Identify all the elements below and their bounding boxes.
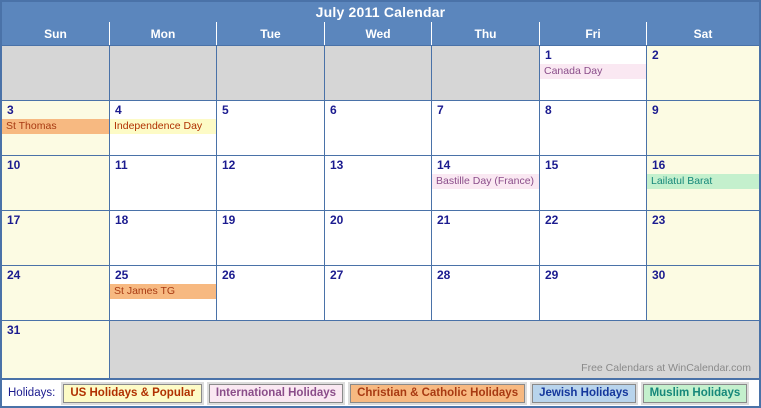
day-cell[interactable]: 23 bbox=[647, 211, 759, 265]
weekday-label: Thu bbox=[475, 27, 497, 41]
day-cell[interactable]: 10 bbox=[2, 156, 110, 210]
holiday-legend-bar: Holidays: US Holidays & PopularInternati… bbox=[0, 380, 761, 408]
day-number: 5 bbox=[217, 101, 324, 119]
weekday-label: Fri bbox=[585, 27, 600, 41]
day-cell[interactable]: 30 bbox=[647, 266, 759, 320]
day-cell[interactable]: 31 bbox=[2, 321, 110, 378]
day-number: 24 bbox=[2, 266, 109, 284]
day-number: 26 bbox=[217, 266, 324, 284]
day-cell-empty bbox=[325, 46, 432, 100]
day-cell[interactable]: 28 bbox=[432, 266, 540, 320]
day-number: 13 bbox=[325, 156, 431, 174]
day-cell[interactable]: 4Independence Day bbox=[110, 101, 217, 155]
day-cell[interactable]: 21 bbox=[432, 211, 540, 265]
day-number: 2 bbox=[647, 46, 759, 64]
day-number: 11 bbox=[110, 156, 216, 174]
day-number: 27 bbox=[325, 266, 431, 284]
week-row: 1011121314Bastille Day (France)1516Laila… bbox=[2, 156, 759, 211]
legend-chip-us[interactable]: US Holidays & Popular bbox=[63, 384, 202, 403]
day-cell[interactable]: 27 bbox=[325, 266, 432, 320]
legend-chip-muslim[interactable]: Muslim Holidays bbox=[643, 384, 748, 403]
day-cell-empty bbox=[217, 46, 325, 100]
weekday-header-thu: Thu bbox=[432, 22, 540, 45]
day-cell[interactable]: 15 bbox=[540, 156, 647, 210]
day-number: 21 bbox=[432, 211, 539, 229]
day-number: 4 bbox=[110, 101, 216, 119]
day-number: 14 bbox=[432, 156, 539, 174]
week-row: 17181920212223 bbox=[2, 211, 759, 266]
calendar-root: July 2011 Calendar SunMonTueWedThuFriSat… bbox=[0, 0, 761, 408]
legend-chip-jewish[interactable]: Jewish Holidays bbox=[532, 384, 635, 403]
day-number: 28 bbox=[432, 266, 539, 284]
day-cell[interactable]: 25St James TG bbox=[110, 266, 217, 320]
day-cell[interactable]: 12 bbox=[217, 156, 325, 210]
day-cell[interactable]: 17 bbox=[2, 211, 110, 265]
day-cell-empty bbox=[2, 46, 110, 100]
day-number: 10 bbox=[2, 156, 109, 174]
day-number: 31 bbox=[2, 321, 109, 339]
day-number: 15 bbox=[540, 156, 646, 174]
week-row: 2425St James TG2627282930 bbox=[2, 266, 759, 321]
weekday-label: Mon bbox=[151, 27, 176, 41]
holiday-event[interactable]: St James TG bbox=[110, 284, 216, 299]
day-number: 23 bbox=[647, 211, 759, 229]
weekday-header-wed: Wed bbox=[325, 22, 432, 45]
day-number: 16 bbox=[647, 156, 759, 174]
day-number: 9 bbox=[647, 101, 759, 119]
watermark-text: Free Calendars at WinCalendar.com bbox=[581, 362, 751, 374]
holiday-event[interactable]: Bastille Day (France) bbox=[432, 174, 539, 189]
weekday-header-mon: Mon bbox=[110, 22, 217, 45]
holiday-event[interactable]: Independence Day bbox=[110, 119, 216, 134]
week-row: 1Canada Day2 bbox=[2, 46, 759, 101]
day-cell[interactable]: 8 bbox=[540, 101, 647, 155]
weekday-header-row: SunMonTueWedThuFriSat bbox=[0, 22, 761, 45]
day-cell[interactable]: 1Canada Day bbox=[540, 46, 647, 100]
page-title: July 2011 Calendar bbox=[316, 5, 446, 19]
day-number: 17 bbox=[2, 211, 109, 229]
weekday-header-sat: Sat bbox=[647, 22, 759, 45]
day-number: 8 bbox=[540, 101, 646, 119]
day-cell[interactable]: 16Lailatul Barat bbox=[647, 156, 759, 210]
legend-chip-international[interactable]: International Holidays bbox=[209, 384, 343, 403]
day-number: 20 bbox=[325, 211, 431, 229]
legend-chip-christian[interactable]: Christian & Catholic Holidays bbox=[350, 384, 525, 403]
day-cell[interactable]: 19 bbox=[217, 211, 325, 265]
weekday-header-fri: Fri bbox=[540, 22, 647, 45]
day-cell[interactable]: 22 bbox=[540, 211, 647, 265]
day-cell[interactable]: 18 bbox=[110, 211, 217, 265]
day-cell[interactable]: 26 bbox=[217, 266, 325, 320]
holiday-event[interactable]: Lailatul Barat bbox=[647, 174, 759, 189]
day-cell[interactable]: 3St Thomas bbox=[2, 101, 110, 155]
weekday-label: Tue bbox=[260, 27, 280, 41]
day-number: 18 bbox=[110, 211, 216, 229]
day-cell[interactable]: 13 bbox=[325, 156, 432, 210]
day-cell[interactable]: 6 bbox=[325, 101, 432, 155]
weekday-header-sun: Sun bbox=[2, 22, 110, 45]
day-number: 1 bbox=[540, 46, 646, 64]
day-cell[interactable]: 29 bbox=[540, 266, 647, 320]
day-cell[interactable]: 14Bastille Day (France) bbox=[432, 156, 540, 210]
day-number: 30 bbox=[647, 266, 759, 284]
day-number: 12 bbox=[217, 156, 324, 174]
day-number: 3 bbox=[2, 101, 109, 119]
day-cell[interactable]: 24 bbox=[2, 266, 110, 320]
day-cell[interactable]: 11 bbox=[110, 156, 217, 210]
calendar-title-bar: July 2011 Calendar bbox=[0, 0, 761, 22]
day-cell[interactable]: 20 bbox=[325, 211, 432, 265]
day-number: 25 bbox=[110, 266, 216, 284]
day-cell[interactable]: 7 bbox=[432, 101, 540, 155]
calendar-grid: 1Canada Day23St Thomas4Independence Day5… bbox=[0, 45, 761, 380]
day-cell[interactable]: 5 bbox=[217, 101, 325, 155]
holiday-event[interactable]: St Thomas bbox=[2, 119, 109, 134]
day-cell-empty bbox=[432, 46, 540, 100]
day-number: 22 bbox=[540, 211, 646, 229]
legend-label: Holidays: bbox=[8, 387, 55, 399]
weekday-label: Wed bbox=[365, 27, 390, 41]
holiday-event[interactable]: Canada Day bbox=[540, 64, 646, 79]
day-number: 29 bbox=[540, 266, 646, 284]
weekday-label: Sat bbox=[694, 27, 713, 41]
weekday-header-tue: Tue bbox=[217, 22, 325, 45]
day-number: 7 bbox=[432, 101, 539, 119]
day-number: 6 bbox=[325, 101, 431, 119]
weekday-label: Sun bbox=[44, 27, 67, 41]
day-number: 19 bbox=[217, 211, 324, 229]
day-cell-empty bbox=[110, 46, 217, 100]
day-cell[interactable]: 9 bbox=[647, 101, 759, 155]
day-cell[interactable]: 2 bbox=[647, 46, 759, 100]
week-row: 3St Thomas4Independence Day56789 bbox=[2, 101, 759, 156]
